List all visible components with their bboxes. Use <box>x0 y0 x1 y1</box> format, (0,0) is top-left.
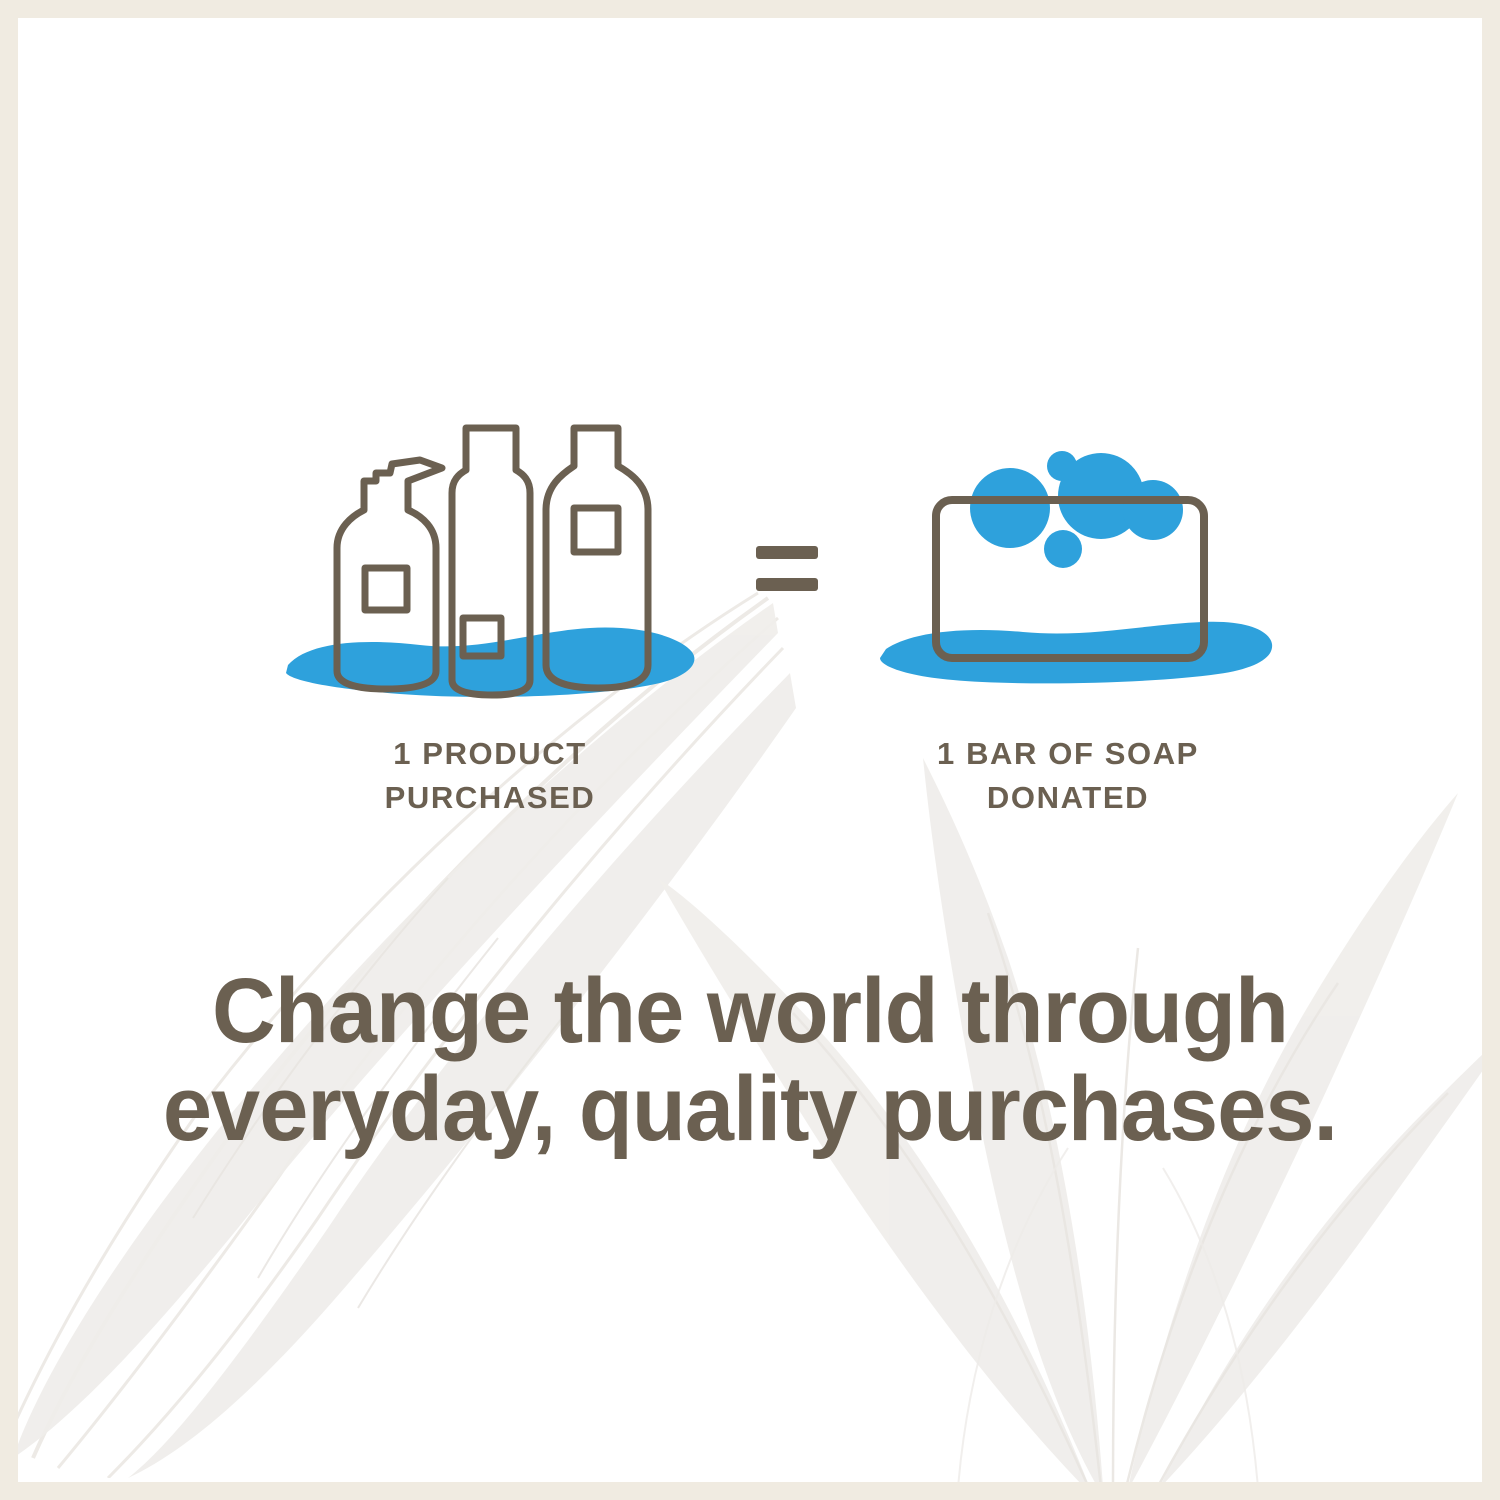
equals-icon <box>756 546 818 596</box>
caption-line-1: 1 BAR OF SOAP <box>858 732 1278 776</box>
page-headline: Change the world through everyday, quali… <box>18 963 1482 1158</box>
caption-line-2: PURCHASED <box>280 776 700 820</box>
caption-line-1: 1 PRODUCT <box>280 732 700 776</box>
soap-donated-block: 1 BAR OF SOAP DONATED <box>858 418 1278 838</box>
soap-bubbles <box>970 451 1183 568</box>
three-bottles-icon <box>280 418 700 708</box>
product-purchased-block: 1 PRODUCT PURCHASED <box>280 418 700 838</box>
poster-canvas: 1 PRODUCT PURCHASED <box>18 18 1482 1482</box>
bar-of-soap-icon <box>858 418 1278 708</box>
product-purchased-caption: 1 PRODUCT PURCHASED <box>280 732 700 820</box>
headline-line-1: Change the world through <box>47 963 1452 1061</box>
soap-donated-caption: 1 BAR OF SOAP DONATED <box>858 732 1278 820</box>
caption-line-2: DONATED <box>858 776 1278 820</box>
headline-line-2: everyday, quality purchases. <box>47 1061 1452 1159</box>
equals-bar-bottom <box>756 578 818 591</box>
donation-infographic: 1 PRODUCT PURCHASED <box>18 418 1482 838</box>
equals-bar-top <box>756 546 818 559</box>
poster-page: 1 PRODUCT PURCHASED <box>0 0 1500 1500</box>
